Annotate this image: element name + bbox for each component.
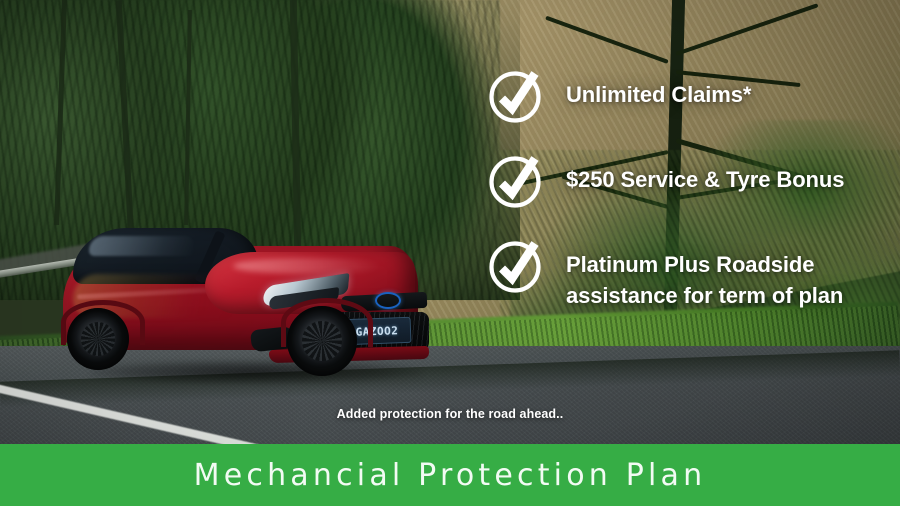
toyota-badge-icon [375,292,401,309]
feature-item: Unlimited Claims* [488,70,888,124]
footer-bar: Mechancial Protection Plan [0,444,900,506]
car-shadow [91,360,421,384]
front-wheel [287,306,357,376]
red-sports-hatchback: GAZOO2 [55,228,430,378]
check-circle-icon [488,68,544,124]
feature-label: Unlimited Claims* [566,70,751,110]
check-circle-icon [488,153,544,209]
check-circle-icon [488,238,544,294]
mechanical-protection-plan-banner: GAZOO2 Unlimited Claims* [0,0,900,506]
tagline: Added protection for the road ahead.. [0,407,900,421]
feature-item: Platinum Plus Roadside assistance for te… [488,240,888,311]
feature-item: $250 Service & Tyre Bonus [488,155,888,209]
hood-highlight [233,258,383,274]
rear-wheel [67,308,129,370]
footer-title: Mechancial Protection Plan [194,458,707,493]
feature-label: Platinum Plus Roadside assistance for te… [566,240,876,311]
window-reflection [89,236,194,256]
feature-list: Unlimited Claims* $250 Service & Tyre Bo… [488,70,888,311]
feature-label: $250 Service & Tyre Bonus [566,155,844,195]
